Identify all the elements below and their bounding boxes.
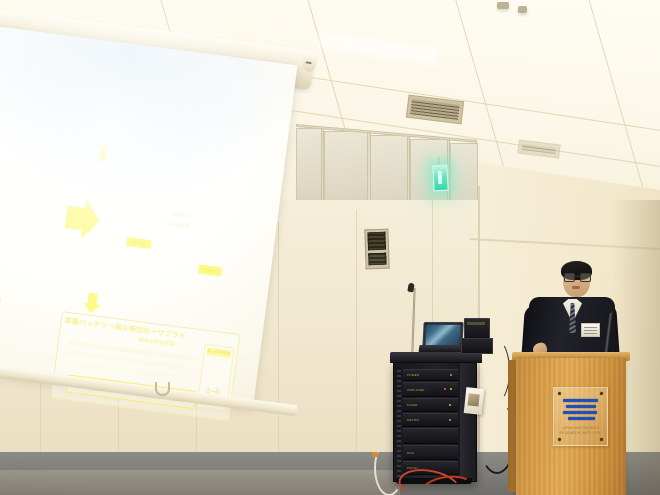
lectern-plaque: JAPAN AUTOMOBILE RESEARCH INSTITUTE: [553, 387, 608, 446]
laptop-screen: [425, 325, 460, 345]
slide-callout-label-2: 信頼性: [203, 267, 216, 274]
slide-arrow-down: [82, 292, 102, 314]
rack-unit[interactable]: MIXER: [403, 398, 458, 412]
rack-unit[interactable]: MATRIX: [403, 413, 458, 427]
rack-unit[interactable]: AMPLIFIER: [403, 382, 458, 397]
sprinkler-head-2: [518, 6, 527, 13]
cable-black-upper: [484, 340, 510, 402]
slide-content: 安全性 信頼性 試験条件 評価結果 車載バッテリー発火無効化一サプライ 開発品技…: [0, 26, 297, 408]
rack-unit[interactable]: [403, 428, 458, 444]
projection-screen: 安全性 信頼性 試験条件 評価結果 車載バッテリー発火無効化一サプライ 開発品技…: [0, 26, 297, 408]
presentation-room-photo: 安全性 信頼性 試験条件 評価結果 車載バッテリー発火無効化一サプライ 開発品技…: [0, 0, 660, 495]
eyeglasses-icon: [564, 273, 589, 280]
floor-foreground: [0, 470, 400, 495]
slide-faint-line-2: 評価結果: [170, 220, 191, 230]
screen-pull-ring[interactable]: [155, 382, 170, 396]
slide-arrow-right: [63, 197, 102, 241]
slide-left-bar: [0, 289, 2, 364]
wall-control-panel[interactable]: [364, 229, 389, 270]
slide-side-box-heading: 発火抑制効果: [206, 347, 231, 358]
name-badge: [581, 323, 600, 337]
slide-callout-tag-1: 安全性: [126, 237, 152, 249]
slide-callout-label-1: 安全性: [132, 239, 145, 246]
rack-unit-label: DVD: [407, 451, 414, 455]
mouth: [572, 286, 580, 289]
slide-marker-small: [97, 146, 108, 163]
rack-unit-label: MIXER: [407, 403, 418, 407]
wall-shadow: [612, 200, 660, 495]
rack-top-device-1[interactable]: [464, 318, 490, 340]
sprinkler-head: [497, 2, 509, 9]
cable-connector: [372, 452, 378, 457]
organization-logo-icon: [563, 399, 598, 421]
rack-unit-label: AMPLIFIER: [407, 388, 425, 392]
rack-unit[interactable]: DVD: [403, 445, 458, 460]
rack-unit[interactable]: POWER: [403, 369, 458, 381]
exit-sign-icon: [432, 165, 448, 192]
cable-white-floor: [374, 440, 404, 495]
posted-document: [464, 387, 485, 415]
plaque-caption: JAPAN AUTOMOBILE RESEARCH INSTITUTE: [554, 426, 607, 436]
rack-unit-label: MATRIX: [407, 418, 419, 422]
presenter: [519, 261, 627, 361]
slide-faint-line-1: 試験条件: [171, 210, 192, 220]
av-equipment-rack: POWER AMPLIFIER MIXER MATRIX DVD PATCH: [393, 362, 477, 482]
rack-unit-label: POWER: [407, 373, 419, 377]
slide-callout-tag-2: 信頼性: [198, 264, 222, 276]
